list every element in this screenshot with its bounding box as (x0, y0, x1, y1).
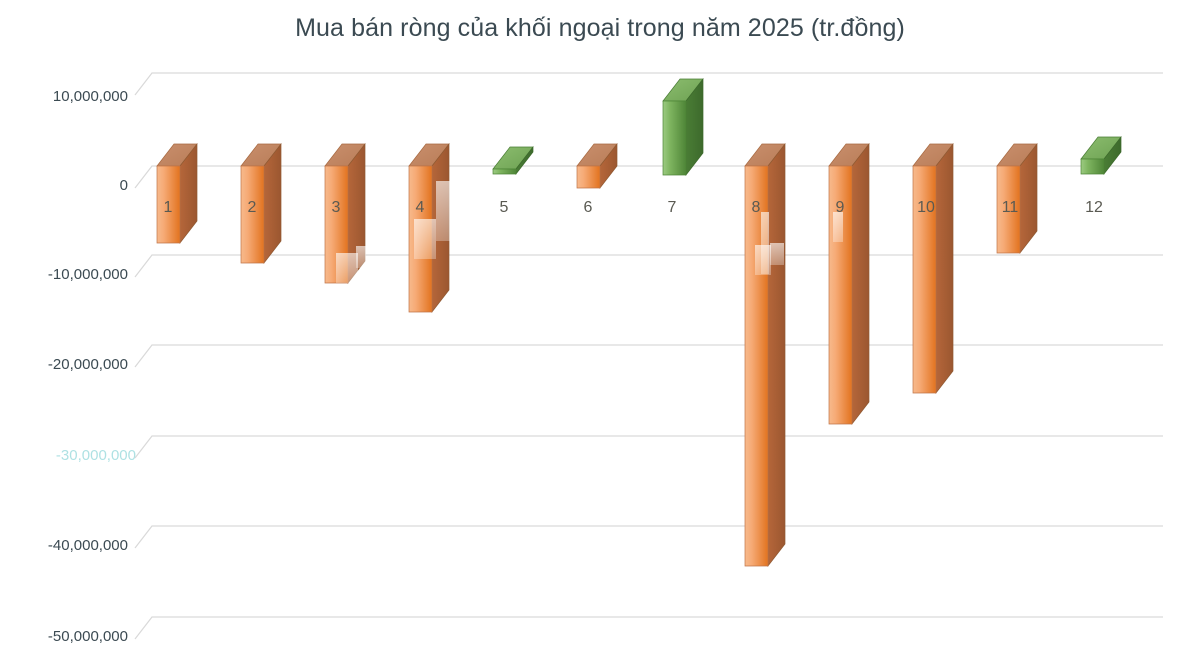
chart-container: Mua bán ròng của khối ngoại trong năm 20… (0, 0, 1200, 663)
bar-series (0, 0, 1200, 663)
bar-column-4 (409, 144, 449, 312)
x-tick-label-10: 10 (906, 200, 946, 216)
x-tick-label-4: 4 (404, 200, 436, 216)
bar-column-6 (577, 144, 617, 188)
plot-area: 1 2 3 4 5 6 7 8 9 10 11 12 (0, 0, 1200, 663)
bar-column-7 (663, 79, 703, 175)
bar-column-9 (829, 144, 869, 424)
x-tick-label-1: 1 (152, 200, 184, 216)
bar-column-5 (493, 147, 533, 174)
x-tick-label-5: 5 (488, 200, 520, 216)
bar-column-12 (1081, 137, 1121, 174)
x-tick-label-11: 11 (990, 200, 1030, 216)
x-tick-label-9: 9 (824, 200, 856, 216)
x-tick-label-8: 8 (740, 200, 772, 216)
bar-column-10 (913, 144, 953, 393)
x-tick-label-6: 6 (572, 200, 604, 216)
x-tick-label-7: 7 (656, 200, 688, 216)
bar-column-1 (157, 144, 197, 243)
x-tick-label-2: 2 (236, 200, 268, 216)
x-tick-label-12: 12 (1074, 200, 1114, 216)
x-tick-label-3: 3 (320, 200, 352, 216)
